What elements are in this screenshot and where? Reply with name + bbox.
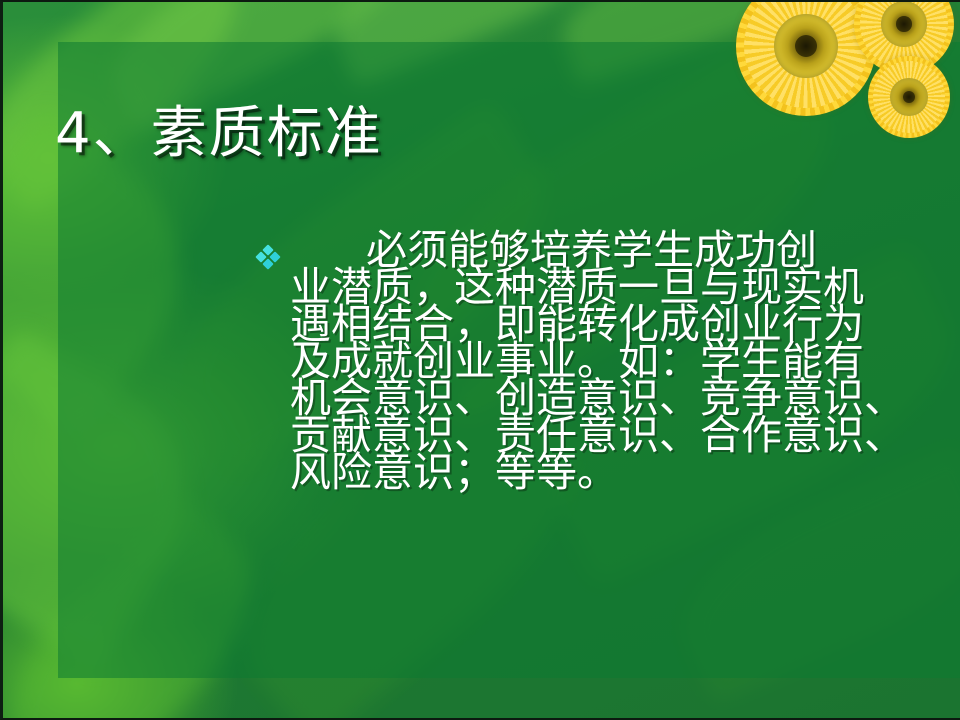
slide-body: 必须能够培养学生成功创 业潜质，这种潜质一旦与现实机 遇相结合，即能转化成创业行… <box>252 232 930 491</box>
body-paragraph: 必须能够培养学生成功创 业潜质，这种潜质一旦与现实机 遇相结合，即能转化成创业行… <box>252 232 930 491</box>
diamond-cluster-bullet-icon <box>257 246 279 268</box>
body-line: 风险意识；等等。 <box>290 454 930 491</box>
slide-title: 4、素质标准 <box>55 104 383 164</box>
slide-canvas: 4、素质标准 必须能够培养学生成功创 业潜质，这种潜质一旦与现实机 遇相结合，即… <box>0 0 960 720</box>
